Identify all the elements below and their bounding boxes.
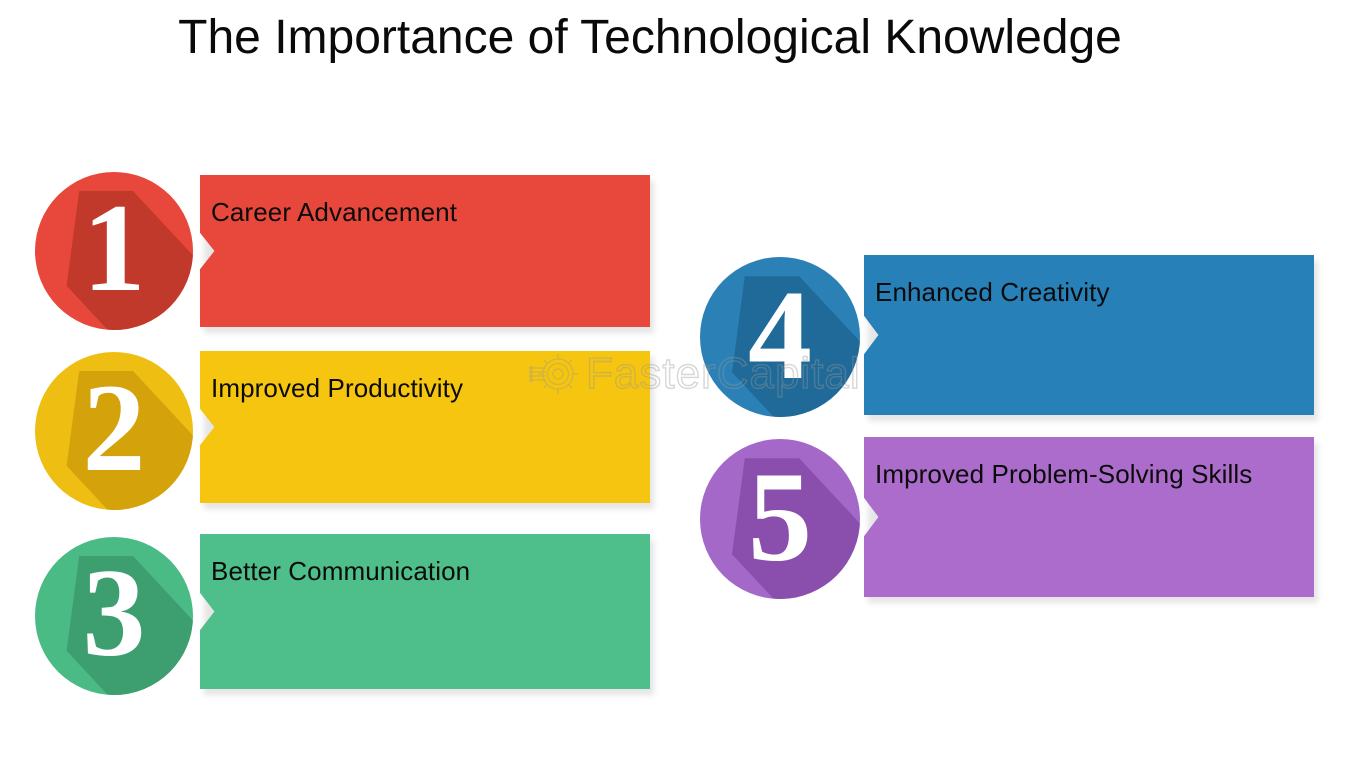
item-label-2: Improved Productivity — [211, 371, 637, 405]
item-circle-3[interactable]: 3 — [35, 537, 193, 695]
item-number-3: 3 — [35, 537, 193, 695]
item-number-5: 5 — [700, 439, 860, 599]
item-number-2: 2 — [35, 352, 193, 510]
infographic-canvas: The Importance of Technological Knowledg… — [0, 0, 1350, 759]
item-circle-4[interactable]: 4 — [700, 257, 860, 417]
item-circle-5[interactable]: 5 — [700, 439, 860, 599]
item-label-4: Enhanced Creativity — [875, 275, 1301, 309]
item-number-1: 1 — [35, 172, 193, 330]
item-label-5: Improved Problem-Solving Skills — [875, 457, 1301, 491]
item-circle-1[interactable]: 1 — [35, 172, 193, 330]
item-label-3: Better Communication — [211, 554, 637, 588]
item-number-4: 4 — [700, 257, 860, 417]
item-label-1: Career Advancement — [211, 195, 637, 229]
item-circle-2[interactable]: 2 — [35, 352, 193, 510]
page-title: The Importance of Technological Knowledg… — [0, 10, 1300, 65]
